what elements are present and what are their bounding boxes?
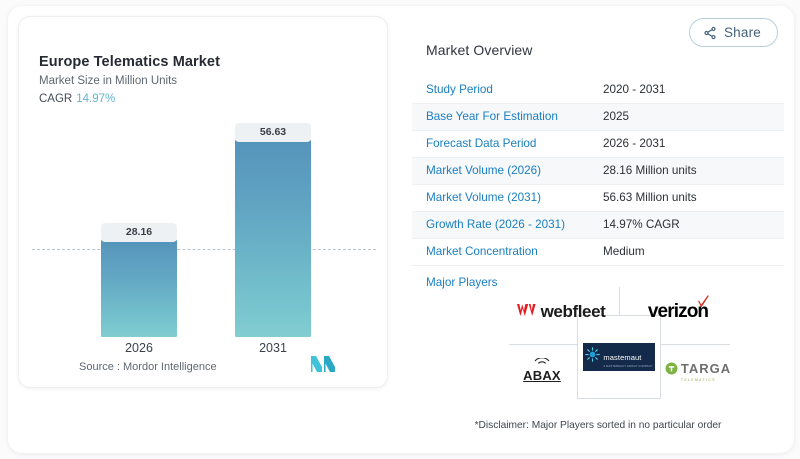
webfleet-mark-icon: [517, 303, 536, 322]
mordor-intelligence-logo: [311, 356, 335, 377]
bar-value-label-2026: 28.16: [101, 223, 177, 242]
row-key: Growth Rate (2026 - 2031): [412, 211, 589, 238]
share-button[interactable]: Share: [689, 18, 778, 47]
chart-cagr: CAGR14.97%: [39, 93, 115, 105]
logo-targa: TARGA TELEMATICS: [663, 349, 733, 393]
row-value: 2026 - 2031: [589, 130, 784, 157]
row-key: Study Period: [412, 76, 589, 103]
reference-dashed-line: [32, 249, 376, 250]
share-button-label: Share: [724, 25, 761, 40]
logo-verizon: verizon: [625, 292, 731, 332]
chart-title: Europe Telematics Market: [39, 54, 220, 70]
row-value: 56.63 Million units: [589, 184, 784, 211]
chart-cagr-label: CAGR: [39, 93, 72, 105]
row-key: Market Volume (2026): [412, 157, 589, 184]
x-axis-label-2026: 2026: [101, 341, 177, 355]
mastermaut-sun-icon: [585, 347, 600, 367]
share-icon: [703, 26, 717, 40]
targa-wordmark: TARGA: [681, 361, 731, 376]
logo-webfleet: webfleet: [507, 292, 615, 332]
bar-chart-plot: 28.16 56.63 2026 2031: [19, 112, 388, 347]
table-row: Forecast Data Period 2026 - 2031: [412, 130, 784, 157]
abax-wifi-icon: [523, 358, 561, 366]
bar-2031: [235, 140, 311, 337]
chart-source-row: Source : Mordor Intelligence: [19, 356, 388, 377]
chart-subtitle: Market Size in Million Units: [39, 75, 177, 87]
webfleet-wordmark: webfleet: [541, 302, 606, 322]
table-row: Market Volume (2026) 28.16 Million units: [412, 157, 784, 184]
row-value: 2020 - 2031: [589, 76, 784, 103]
market-overview-panel: Market Overview Study Period 2020 - 2031…: [412, 16, 784, 292]
bar-2026: [101, 240, 177, 337]
row-key: Base Year For Estimation: [412, 103, 589, 130]
chart-cagr-value: 14.97%: [76, 93, 115, 105]
screenshot-root: Share Europe Telematics Market Market Si…: [0, 0, 800, 459]
x-axis-label-2031: 2031: [235, 341, 311, 355]
logo-abax: ABAX: [509, 349, 575, 393]
row-value: Medium: [589, 238, 784, 265]
overview-table: Study Period 2020 - 2031 Base Year For E…: [412, 76, 784, 292]
abax-wordmark: ABAX: [523, 368, 561, 383]
source-label: Source : Mordor Intelligence: [79, 361, 217, 373]
table-row: Growth Rate (2026 - 2031) 14.97% CAGR: [412, 211, 784, 238]
row-key: Forecast Data Period: [412, 130, 589, 157]
major-players-logo-grid: webfleet verizon: [503, 287, 735, 399]
table-row: Market Concentration Medium: [412, 238, 784, 265]
bar-value-label-2031: 56.63: [235, 123, 311, 142]
targa-mark-icon: [665, 362, 678, 380]
table-row: Study Period 2020 - 2031: [412, 76, 784, 103]
row-key: Market Volume (2031): [412, 184, 589, 211]
verizon-check-icon: [697, 295, 710, 314]
mastermaut-tagline: A MASTERNAUT GROUP COMPANY: [603, 365, 652, 368]
row-value: 14.97% CAGR: [589, 211, 784, 238]
row-value: 2025: [589, 103, 784, 130]
logo-mastermaut: mastemaut A MASTERNAUT GROUP COMPANY: [583, 341, 655, 373]
targa-tagline: TELEMATICS: [681, 378, 731, 382]
disclaimer-text: *Disclaimer: Major Players sorted in no …: [412, 420, 784, 431]
mastermaut-wordmark: mastemaut: [603, 353, 641, 362]
row-value: 28.16 Million units: [589, 157, 784, 184]
row-key: Market Concentration: [412, 238, 589, 265]
table-row: Market Volume (2031) 56.63 Million units: [412, 184, 784, 211]
chart-card: Europe Telematics Market Market Size in …: [18, 16, 388, 388]
table-row: Base Year For Estimation 2025: [412, 103, 784, 130]
